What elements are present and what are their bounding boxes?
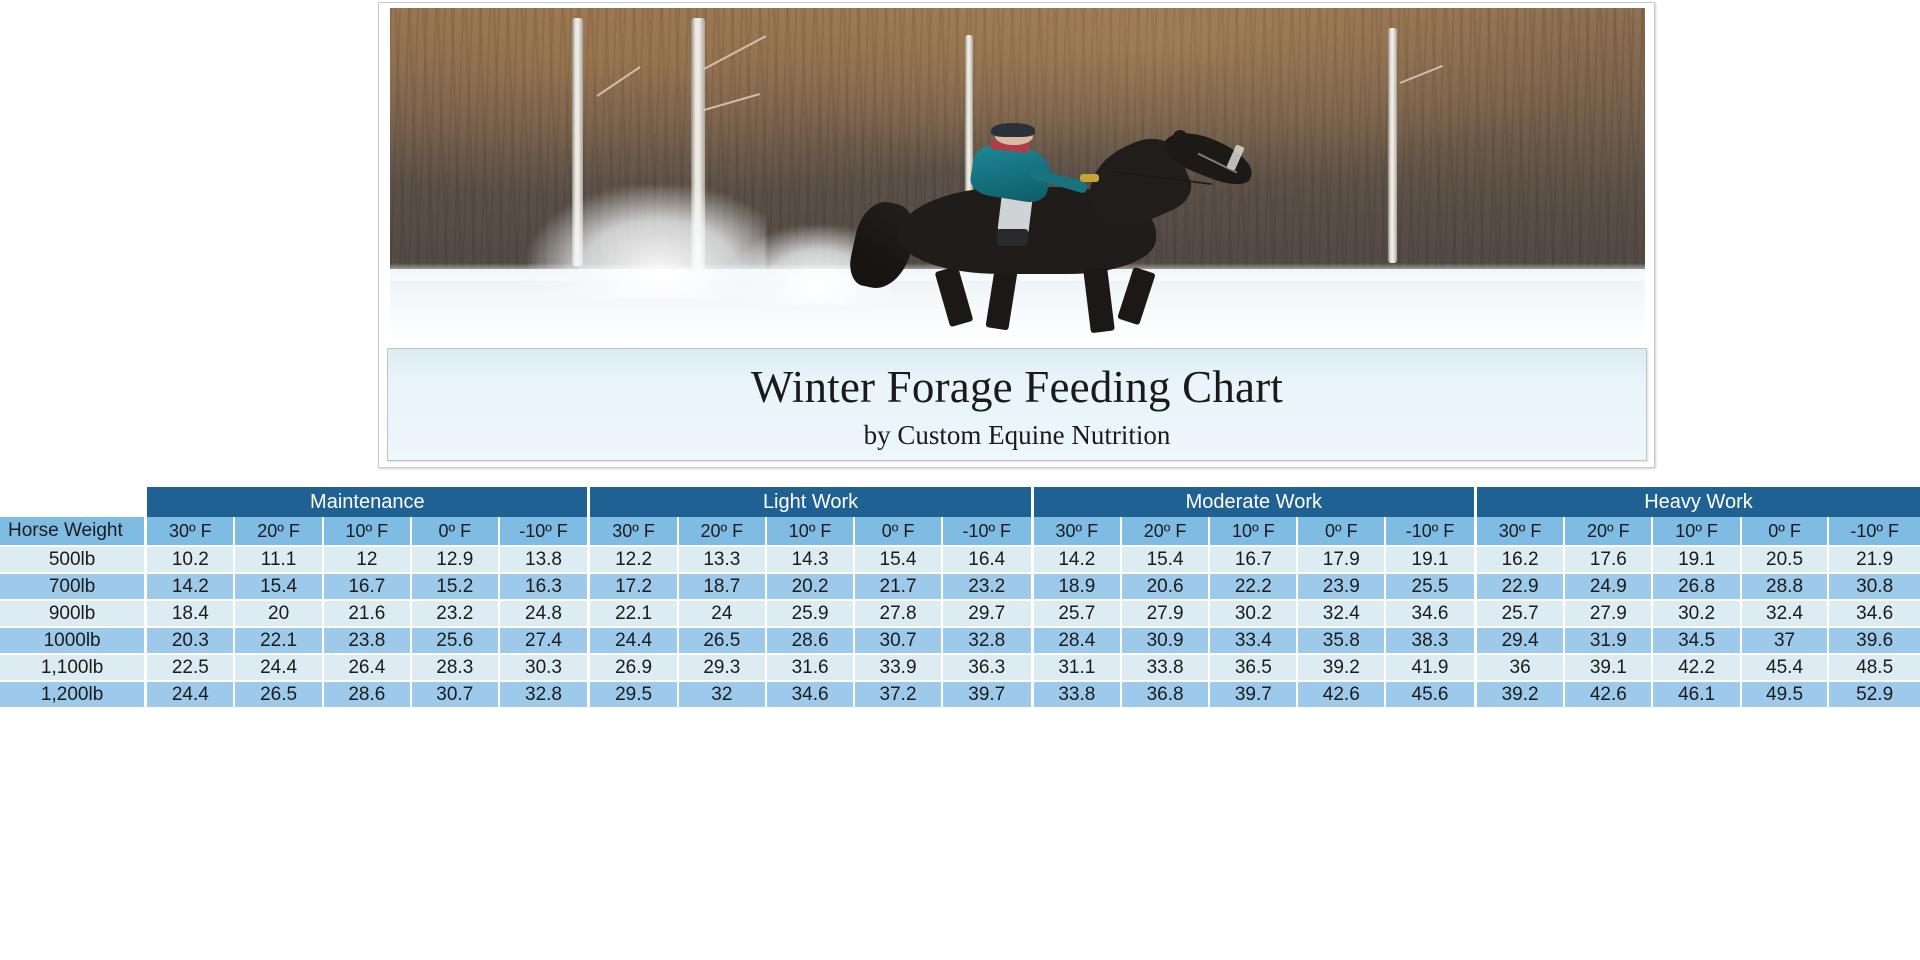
cell-heavy-30f: 16.2 [1477, 547, 1565, 574]
cell-heavy-10f: 46.1 [1653, 682, 1741, 709]
cell-moderate-20f: 36.8 [1122, 682, 1210, 709]
cell-heavy-10f: 26.8 [1653, 574, 1741, 601]
cell-maintenance-20f: 26.5 [235, 682, 323, 709]
cell-moderate-20f: 33.8 [1122, 655, 1210, 682]
column-header-horse-weight: Horse Weight [0, 517, 147, 547]
row-weight: 1000lb [0, 628, 147, 655]
column-header-moderate-neg10f: -10º F [1386, 517, 1477, 547]
cell-maintenance-20f: 15.4 [235, 574, 323, 601]
cell-light-0f: 27.8 [855, 601, 943, 628]
cell-heavy-20f: 42.6 [1565, 682, 1653, 709]
group-header-heavy-work: Heavy Work [1477, 487, 1920, 517]
column-header-heavy-0f: 0º F [1742, 517, 1830, 547]
row-weight: 1,100lb [0, 655, 147, 682]
birch-tree-icon [1388, 28, 1397, 263]
cell-light-10f: 20.2 [767, 574, 855, 601]
column-header-maintenance-0f: 0º F [412, 517, 500, 547]
cell-heavy-neg10f: 34.6 [1829, 601, 1920, 628]
cell-maintenance-neg10f: 16.3 [500, 574, 591, 601]
cell-heavy-neg10f: 39.6 [1829, 628, 1920, 655]
cell-maintenance-20f: 11.1 [235, 547, 323, 574]
cell-maintenance-10f: 12 [324, 547, 412, 574]
rider-glove [1080, 174, 1099, 182]
column-header-moderate-0f: 0º F [1298, 517, 1386, 547]
column-header-heavy-neg10f: -10º F [1829, 517, 1920, 547]
cell-heavy-20f: 17.6 [1565, 547, 1653, 574]
cell-light-neg10f: 36.3 [943, 655, 1034, 682]
cell-heavy-30f: 36 [1477, 655, 1565, 682]
cell-maintenance-10f: 16.7 [324, 574, 412, 601]
column-header-light-10f: 10º F [767, 517, 855, 547]
winter-forage-feeding-table: Maintenance Light Work Moderate Work Hea… [0, 487, 1920, 709]
cell-heavy-30f: 22.9 [1477, 574, 1565, 601]
cell-heavy-20f: 24.9 [1565, 574, 1653, 601]
cell-heavy-0f: 28.8 [1742, 574, 1830, 601]
cell-maintenance-0f: 28.3 [412, 655, 500, 682]
cell-maintenance-10f: 21.6 [324, 601, 412, 628]
rider-helmet [991, 123, 1035, 137]
cell-heavy-neg10f: 21.9 [1829, 547, 1920, 574]
cell-heavy-0f: 49.5 [1742, 682, 1830, 709]
page-title: Winter Forage Feeding Chart [388, 349, 1646, 410]
cell-heavy-0f: 45.4 [1742, 655, 1830, 682]
cell-maintenance-10f: 23.8 [324, 628, 412, 655]
cell-heavy-20f: 31.9 [1565, 628, 1653, 655]
table-row: 1,100lb 22.5 24.4 26.4 28.3 30.3 26.9 29… [0, 655, 1920, 682]
cell-moderate-30f: 28.4 [1034, 628, 1122, 655]
column-header-maintenance-neg10f: -10º F [500, 517, 591, 547]
cell-moderate-10f: 22.2 [1210, 574, 1298, 601]
cell-moderate-30f: 18.9 [1034, 574, 1122, 601]
cell-heavy-30f: 29.4 [1477, 628, 1565, 655]
cell-moderate-10f: 33.4 [1210, 628, 1298, 655]
cell-moderate-0f: 17.9 [1298, 547, 1386, 574]
cell-moderate-0f: 39.2 [1298, 655, 1386, 682]
cell-light-20f: 13.3 [679, 547, 767, 574]
table-body: 500lb 10.2 11.1 12 12.9 13.8 12.2 13.3 1… [0, 547, 1920, 709]
cell-light-0f: 37.2 [855, 682, 943, 709]
group-header-row: Maintenance Light Work Moderate Work Hea… [0, 487, 1920, 517]
cell-heavy-neg10f: 30.8 [1829, 574, 1920, 601]
cell-light-20f: 18.7 [679, 574, 767, 601]
cell-maintenance-20f: 24.4 [235, 655, 323, 682]
cell-light-10f: 14.3 [767, 547, 855, 574]
cell-moderate-30f: 25.7 [1034, 601, 1122, 628]
cell-maintenance-20f: 20 [235, 601, 323, 628]
cell-moderate-0f: 32.4 [1298, 601, 1386, 628]
cell-moderate-neg10f: 41.9 [1386, 655, 1477, 682]
column-header-heavy-30f: 30º F [1477, 517, 1565, 547]
cell-maintenance-20f: 22.1 [235, 628, 323, 655]
cell-moderate-20f: 30.9 [1122, 628, 1210, 655]
cell-heavy-neg10f: 48.5 [1829, 655, 1920, 682]
cell-moderate-30f: 31.1 [1034, 655, 1122, 682]
cell-light-10f: 28.6 [767, 628, 855, 655]
cell-moderate-10f: 39.7 [1210, 682, 1298, 709]
cell-maintenance-neg10f: 13.8 [500, 547, 591, 574]
cell-light-30f: 12.2 [590, 547, 678, 574]
cell-light-30f: 17.2 [590, 574, 678, 601]
column-header-moderate-10f: 10º F [1210, 517, 1298, 547]
cell-light-10f: 31.6 [767, 655, 855, 682]
cell-heavy-10f: 19.1 [1653, 547, 1741, 574]
cell-heavy-10f: 42.2 [1653, 655, 1741, 682]
cell-heavy-10f: 30.2 [1653, 601, 1741, 628]
horse-in-snow-photo [390, 8, 1645, 343]
table-row: 700lb 14.2 15.4 16.7 15.2 16.3 17.2 18.7… [0, 574, 1920, 601]
cell-light-0f: 21.7 [855, 574, 943, 601]
title-plate: Winter Forage Feeding Chart by Custom Eq… [387, 348, 1647, 461]
column-header-heavy-20f: 20º F [1565, 517, 1653, 547]
column-header-maintenance-20f: 20º F [235, 517, 323, 547]
cell-heavy-0f: 37 [1742, 628, 1830, 655]
column-header-maintenance-10f: 10º F [324, 517, 412, 547]
table-row: 500lb 10.2 11.1 12 12.9 13.8 12.2 13.3 1… [0, 547, 1920, 574]
cell-light-20f: 26.5 [679, 628, 767, 655]
column-header-light-neg10f: -10º F [943, 517, 1034, 547]
cell-moderate-30f: 33.8 [1034, 682, 1122, 709]
cell-moderate-0f: 35.8 [1298, 628, 1386, 655]
column-header-moderate-20f: 20º F [1122, 517, 1210, 547]
cell-light-10f: 25.9 [767, 601, 855, 628]
cell-maintenance-0f: 30.7 [412, 682, 500, 709]
cell-heavy-10f: 34.5 [1653, 628, 1741, 655]
cell-maintenance-30f: 14.2 [147, 574, 235, 601]
cell-light-10f: 34.6 [767, 682, 855, 709]
cell-moderate-0f: 23.9 [1298, 574, 1386, 601]
column-header-light-20f: 20º F [679, 517, 767, 547]
cell-maintenance-neg10f: 24.8 [500, 601, 591, 628]
column-header-light-30f: 30º F [590, 517, 678, 547]
cell-heavy-30f: 25.7 [1477, 601, 1565, 628]
cell-maintenance-30f: 10.2 [147, 547, 235, 574]
cell-light-30f: 22.1 [590, 601, 678, 628]
cell-maintenance-30f: 18.4 [147, 601, 235, 628]
group-header-maintenance: Maintenance [147, 487, 590, 517]
cell-moderate-0f: 42.6 [1298, 682, 1386, 709]
cell-light-30f: 24.4 [590, 628, 678, 655]
cell-moderate-neg10f: 19.1 [1386, 547, 1477, 574]
row-weight: 500lb [0, 547, 147, 574]
cell-maintenance-0f: 23.2 [412, 601, 500, 628]
group-header-light-work: Light Work [590, 487, 1033, 517]
group-header-moderate-work: Moderate Work [1034, 487, 1477, 517]
cell-light-0f: 33.9 [855, 655, 943, 682]
cell-heavy-20f: 39.1 [1565, 655, 1653, 682]
rider-boot [997, 229, 1027, 246]
cell-maintenance-0f: 25.6 [412, 628, 500, 655]
cell-light-neg10f: 29.7 [943, 601, 1034, 628]
column-header-light-0f: 0º F [855, 517, 943, 547]
cell-maintenance-30f: 24.4 [147, 682, 235, 709]
cell-maintenance-10f: 28.6 [324, 682, 412, 709]
cell-heavy-0f: 20.5 [1742, 547, 1830, 574]
table-row: 900lb 18.4 20 21.6 23.2 24.8 22.1 24 25.… [0, 601, 1920, 628]
group-header-spacer [0, 487, 147, 517]
table-row: 1000lb 20.3 22.1 23.8 25.6 27.4 24.4 26.… [0, 628, 1920, 655]
cell-light-0f: 15.4 [855, 547, 943, 574]
cell-maintenance-0f: 12.9 [412, 547, 500, 574]
table-row: 1,200lb 24.4 26.5 28.6 30.7 32.8 29.5 32… [0, 682, 1920, 709]
cell-moderate-neg10f: 25.5 [1386, 574, 1477, 601]
cell-light-20f: 32 [679, 682, 767, 709]
cell-maintenance-neg10f: 27.4 [500, 628, 591, 655]
cell-moderate-20f: 20.6 [1122, 574, 1210, 601]
cell-heavy-0f: 32.4 [1742, 601, 1830, 628]
cell-light-20f: 24 [679, 601, 767, 628]
page-subtitle: by Custom Equine Nutrition [388, 410, 1646, 449]
cell-moderate-20f: 15.4 [1122, 547, 1210, 574]
cell-heavy-20f: 27.9 [1565, 601, 1653, 628]
row-weight: 900lb [0, 601, 147, 628]
row-weight: 700lb [0, 574, 147, 601]
cell-moderate-10f: 16.7 [1210, 547, 1298, 574]
cell-light-20f: 29.3 [679, 655, 767, 682]
cell-maintenance-30f: 22.5 [147, 655, 235, 682]
temperature-header-row: Horse Weight 30º F 20º F 10º F 0º F -10º… [0, 517, 1920, 547]
cell-light-0f: 30.7 [855, 628, 943, 655]
column-header-moderate-30f: 30º F [1034, 517, 1122, 547]
cell-maintenance-0f: 15.2 [412, 574, 500, 601]
cell-maintenance-30f: 20.3 [147, 628, 235, 655]
cell-heavy-neg10f: 52.9 [1829, 682, 1920, 709]
cell-moderate-20f: 27.9 [1122, 601, 1210, 628]
cell-moderate-neg10f: 38.3 [1386, 628, 1477, 655]
cell-maintenance-neg10f: 32.8 [500, 682, 591, 709]
cell-light-neg10f: 39.7 [943, 682, 1034, 709]
cell-light-neg10f: 23.2 [943, 574, 1034, 601]
row-weight: 1,200lb [0, 682, 147, 709]
cell-moderate-10f: 30.2 [1210, 601, 1298, 628]
cell-heavy-30f: 39.2 [1477, 682, 1565, 709]
cell-maintenance-10f: 26.4 [324, 655, 412, 682]
column-header-heavy-10f: 10º F [1653, 517, 1741, 547]
cell-light-30f: 26.9 [590, 655, 678, 682]
cell-light-neg10f: 32.8 [943, 628, 1034, 655]
cell-light-neg10f: 16.4 [943, 547, 1034, 574]
cell-moderate-neg10f: 34.6 [1386, 601, 1477, 628]
cell-moderate-30f: 14.2 [1034, 547, 1122, 574]
cell-maintenance-neg10f: 30.3 [500, 655, 591, 682]
cell-moderate-10f: 36.5 [1210, 655, 1298, 682]
column-header-maintenance-30f: 30º F [147, 517, 235, 547]
cell-light-30f: 29.5 [590, 682, 678, 709]
cell-moderate-neg10f: 45.6 [1386, 682, 1477, 709]
